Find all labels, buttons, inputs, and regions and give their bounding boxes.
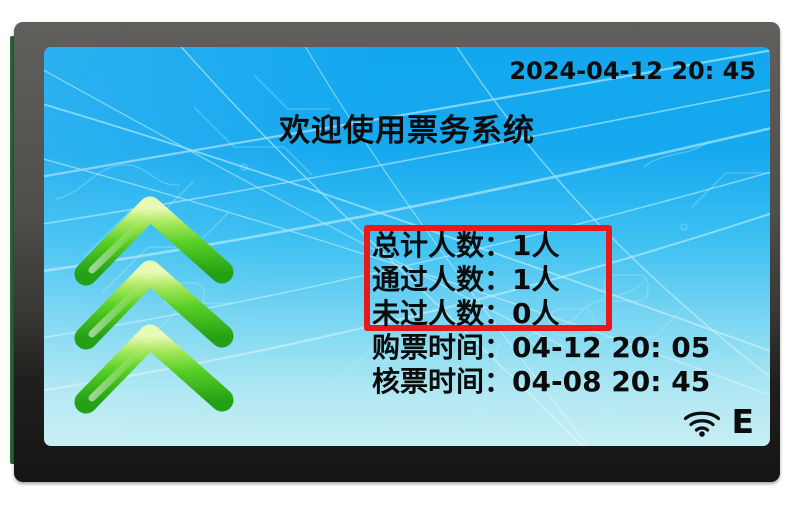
- stat-row-passed: 通过人数：1人: [372, 263, 770, 297]
- stat-label-failed: 未过人数：: [372, 297, 512, 330]
- display-screen: 2024-04-12 20: 45 欢迎使用票务系统 总计人数：1人 通过人数：…: [44, 47, 770, 446]
- triple-chevron-up-logo: [72, 192, 262, 414]
- datetime-readout: 2024-04-12 20: 45: [509, 57, 756, 85]
- info-lines: 总计人数：1人 通过人数：1人 未过人数：0人 购票时间：04-12 20: 0…: [372, 229, 770, 399]
- stat-label-passed: 通过人数：: [372, 263, 512, 296]
- status-indicators: E: [682, 405, 754, 438]
- stat-value-total: 1人: [512, 229, 559, 262]
- verify-time-row: 核票时间：04-08 20: 45: [372, 365, 770, 399]
- stat-label-total: 总计人数：: [372, 229, 512, 262]
- monitor-bezel: 2024-04-12 20: 45 欢迎使用票务系统 总计人数：1人 通过人数：…: [14, 22, 780, 482]
- wifi-dot: [700, 431, 706, 437]
- stat-value-passed: 1人: [512, 263, 559, 296]
- purchase-time-value: 04-12 20: 05: [512, 331, 710, 364]
- purchase-time-label: 购票时间：: [372, 331, 512, 364]
- lcd-display-device: 2024-04-12 20: 45 欢迎使用票务系统 总计人数：1人 通过人数：…: [10, 22, 790, 484]
- stat-value-failed: 0人: [512, 297, 559, 330]
- verify-time-value: 04-08 20: 45: [512, 365, 710, 398]
- verify-time-label: 核票时间：: [372, 365, 512, 398]
- purchase-time-row: 购票时间：04-12 20: 05: [372, 331, 770, 365]
- page-title: 欢迎使用票务系统: [44, 105, 770, 150]
- network-type-letter: E: [731, 405, 754, 438]
- stat-row-total: 总计人数：1人: [372, 229, 770, 263]
- stat-row-failed: 未过人数：0人: [372, 297, 770, 331]
- wifi-icon: [682, 408, 722, 438]
